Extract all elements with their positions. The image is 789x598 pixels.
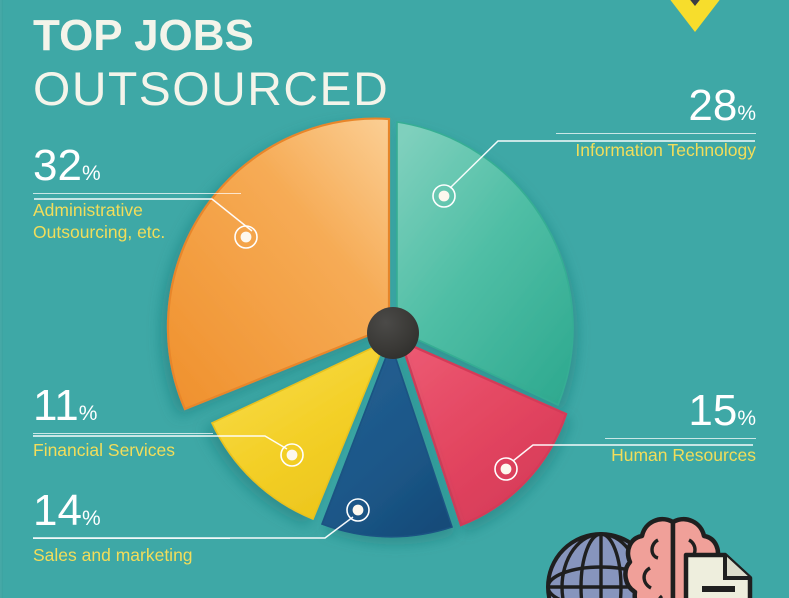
marker-financial-services[interactable] <box>281 444 303 466</box>
globe-icon <box>548 534 654 598</box>
callout-divider-human-resources <box>605 438 756 439</box>
percent-number-financial-services: 11 <box>33 381 79 430</box>
title-line-top: TOP JOBS <box>33 14 382 58</box>
percent-value-administrative: 32% <box>33 145 241 187</box>
percent-number-administrative: 32 <box>33 141 82 190</box>
callout-divider-administrative <box>33 193 241 194</box>
marker-sales-marketing[interactable] <box>347 499 369 521</box>
percent-number-information-technology: 28 <box>688 81 737 130</box>
percent-symbol-sales-and-marketing: % <box>82 507 101 530</box>
brain-icon <box>625 519 720 598</box>
pie-slice-sales-and-marketing <box>322 344 452 537</box>
callout-caption-administrative: Administrative Outsourcing, etc. <box>33 199 241 244</box>
callout-administrative[interactable]: 32% Administrative Outsourcing, etc. <box>33 145 241 244</box>
callout-caption-financial-services: Financial Services <box>33 439 213 461</box>
callout-caption-information-technology: Information Technology <box>556 139 756 161</box>
callout-caption-human-resources: Human Resources <box>605 444 756 466</box>
callout-divider-information-technology <box>556 133 756 134</box>
marker-dot-financial-services <box>287 450 298 461</box>
marker-information-technology[interactable] <box>433 185 455 207</box>
pie-slice-human-resources <box>401 341 566 525</box>
callout-financial-services[interactable]: 11% Financial Services <box>33 385 213 461</box>
percent-value-sales-and-marketing: 14% <box>33 490 230 532</box>
callout-divider-financial-services <box>33 433 213 434</box>
percent-number-human-resources: 15 <box>688 386 737 435</box>
percent-symbol-information-technology: % <box>737 102 756 125</box>
callout-divider-sales-and-marketing <box>33 538 230 539</box>
marker-human-resources[interactable] <box>495 458 517 480</box>
page-title: TOP JOBS OUTSOURCED <box>33 14 382 112</box>
pie-center-hub <box>367 307 419 359</box>
marker-dot-sales-marketing <box>353 505 364 516</box>
percent-value-human-resources: 15% <box>605 390 756 432</box>
document-icon <box>686 555 750 598</box>
title-line-bottom: OUTSOURCED <box>33 65 389 112</box>
pie-slice-information-technology <box>397 122 573 405</box>
marker-dot-administrative <box>241 232 252 243</box>
percent-number-sales-and-marketing: 14 <box>33 486 82 535</box>
marker-dot-information-technology <box>439 191 450 202</box>
marker-dot-human-resources <box>501 464 512 475</box>
infographic-canvas: TOP JOBS OUTSOURCED 32% Administrative O… <box>0 0 789 598</box>
percent-symbol-administrative: % <box>82 162 101 185</box>
callout-caption-sales-and-marketing: Sales and marketing <box>33 544 230 566</box>
callout-sales-and-marketing[interactable]: 14% Sales and marketing <box>33 490 230 566</box>
percent-symbol-human-resources: % <box>737 407 756 430</box>
percent-value-information-technology: 28% <box>556 85 756 127</box>
percent-symbol-financial-services: % <box>79 402 98 425</box>
callout-information-technology[interactable]: 28% Information Technology <box>556 85 756 161</box>
pie-slice-financial-services <box>212 342 385 519</box>
percent-value-financial-services: 11% <box>33 385 213 427</box>
chevron-down-triangle-decoration <box>655 0 735 32</box>
callout-human-resources[interactable]: 15% Human Resources <box>605 390 756 466</box>
